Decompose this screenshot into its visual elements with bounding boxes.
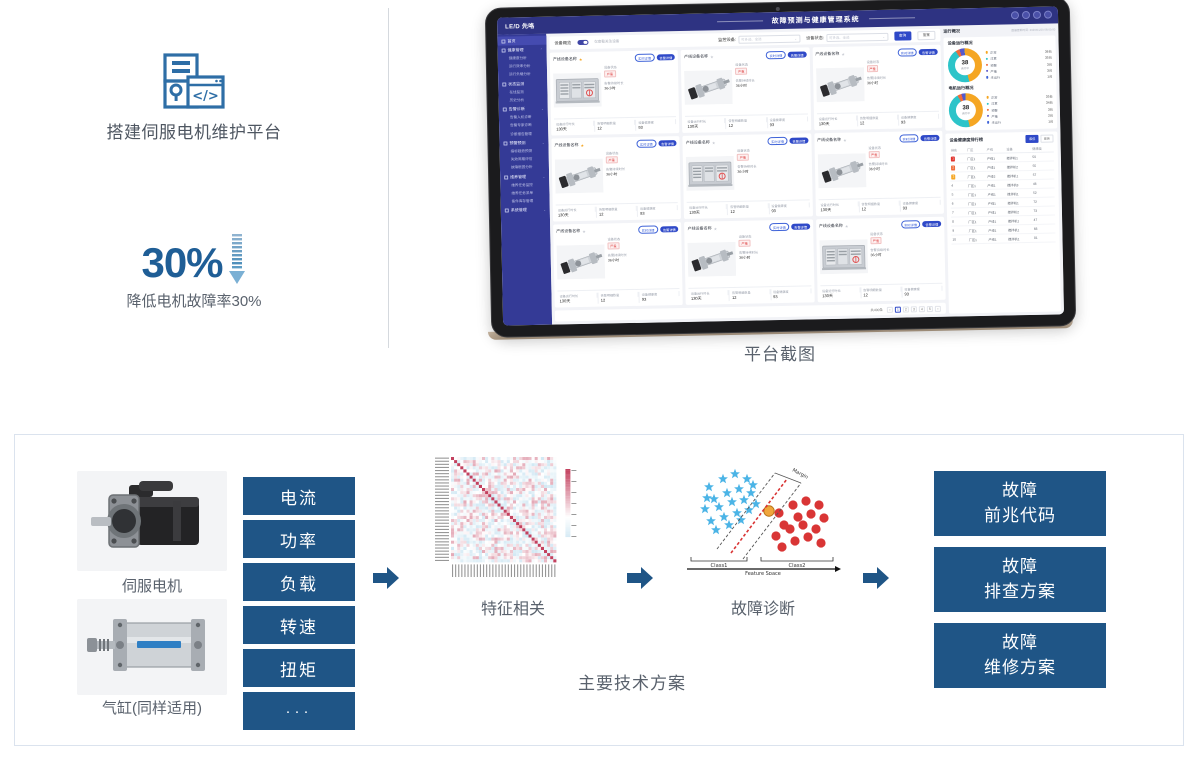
status-badge: 严重 xyxy=(735,68,747,75)
kpi-value: 30% xyxy=(141,242,222,284)
stat-value: 93 xyxy=(639,210,678,216)
cell-plant: 厂区1 xyxy=(968,235,988,244)
cell-score: 73 xyxy=(1032,206,1055,215)
tech-solution-box: 伺服电机 xyxy=(14,434,1184,746)
duration-value: 36小时 xyxy=(739,254,810,260)
device-thumbnail xyxy=(556,237,605,288)
realtime-detail-button[interactable]: 实时详情 xyxy=(899,134,919,143)
stat-value: 93 xyxy=(769,121,808,127)
device-thumbnail xyxy=(816,59,865,110)
page-button-3[interactable]: 3 xyxy=(911,306,917,312)
overview-title: 运行概况 xyxy=(943,28,960,34)
page-button-4[interactable]: 4 xyxy=(919,306,925,312)
legend-label: 未运行 xyxy=(991,74,1001,79)
legend-value: 3台 xyxy=(1048,106,1053,111)
device-card[interactable]: 产线设备名称 ★ 实时详情 告警详情 设备状态 严重 告警持续时长 36小时 xyxy=(812,45,942,131)
chevron-icon: ⌄ xyxy=(542,141,545,145)
duration-value: 36小时 xyxy=(867,80,938,86)
stat-cell: 设备运行时长 130天 xyxy=(818,201,859,213)
next-page-button[interactable]: › xyxy=(935,305,941,311)
legend-dot-icon xyxy=(987,102,989,104)
device-name: 产线设备名称 xyxy=(815,51,839,57)
realtime-detail-button[interactable]: 实时详情 xyxy=(897,48,917,57)
feature-correlation-heatmap xyxy=(433,451,593,577)
alarm-detail-button[interactable]: 告警详情 xyxy=(921,135,940,142)
device-card[interactable]: 产线设备名称 ★ 实时详情 告警详情 设备状态 严重 告警持续时长 36小时 xyxy=(551,136,681,222)
legend-value: 3台 xyxy=(1047,67,1052,72)
user-icon[interactable] xyxy=(1033,11,1041,19)
cell-rank: 5 xyxy=(951,190,967,199)
scatter-caption: 故障诊断 xyxy=(663,595,863,619)
stat-value: 12 xyxy=(861,206,900,212)
legend-value: 35台 xyxy=(1046,94,1053,99)
page-button-5[interactable]: 5 xyxy=(927,305,933,311)
alarm-detail-button[interactable]: 告警详情 xyxy=(660,226,679,233)
chevron-down-icon: ⌄ xyxy=(794,36,797,40)
output-line: 维修方案 xyxy=(984,656,1056,681)
alarm-detail-button[interactable]: 告警详情 xyxy=(919,49,938,56)
output-line: 故障 xyxy=(1002,479,1038,504)
stat-cell: 告警明细数量 12 xyxy=(861,286,902,298)
sidebar-item-label: 告警诊断 xyxy=(509,106,525,112)
device-thumbnail xyxy=(553,65,602,116)
status-badge: 严重 xyxy=(604,70,616,77)
stat-cell: 设备运行时长 130天 xyxy=(687,204,728,216)
output-box-column: 故障前兆代码故障排查方案故障维修方案 xyxy=(934,471,1106,688)
stat-value: 12 xyxy=(862,292,901,298)
pneumatic-cylinder-photo xyxy=(77,599,227,695)
app-body: 首页健康管理⌃健康度分析运行效率分析运行负载分析状态监测在线监测历史分析告警诊断… xyxy=(497,23,1064,325)
legend-value: 3台 xyxy=(1047,61,1052,66)
device-name: 产线设备名称 xyxy=(556,228,580,234)
cell-plant: 厂区1 xyxy=(966,172,986,181)
stat-value: 93 xyxy=(641,296,680,302)
device-thumbnail xyxy=(684,62,733,113)
prev-page-button[interactable]: ‹ xyxy=(887,306,893,312)
device-thumbnail xyxy=(688,234,737,285)
device-thumbnail xyxy=(686,148,735,199)
donut-value: 38 xyxy=(962,105,969,111)
stat-cell: 设备健康度 93 xyxy=(640,291,680,303)
cell-plant: 厂区1 xyxy=(967,217,987,226)
title-rule-right xyxy=(869,17,915,19)
device-card[interactable]: 产线设备名称 ★ 实时详情 告警详情 设备状态 严重 告警持续时长 36小 xyxy=(816,217,946,303)
alarm-detail-button[interactable]: 告警详情 xyxy=(788,51,807,58)
cell-line: 产线1 xyxy=(987,225,1007,234)
filter2-placeholder: 可多选、全选 xyxy=(829,35,849,40)
stat-value: 93 xyxy=(772,293,811,299)
device-meta: 设备状态 严重 告警持续时长 36小时 xyxy=(737,147,809,199)
card-header: 产线设备名称 ★ 实时详情 告警详情 xyxy=(684,50,806,61)
output-line: 排查方案 xyxy=(984,580,1056,605)
legend-label: 严重 xyxy=(991,113,997,118)
device-thumbnail xyxy=(555,151,604,202)
realtime-detail-button[interactable]: 实时详情 xyxy=(769,223,789,232)
legend-label: 未运行 xyxy=(991,119,1001,124)
tech-solution-caption: 主要技术方案 xyxy=(502,669,762,694)
donut-value: 38 xyxy=(962,60,969,66)
donut-chart: 38 运行中 xyxy=(949,93,984,128)
stat-value: 130天 xyxy=(559,298,598,305)
legend-value: 35台 xyxy=(1045,55,1052,60)
filter2-label: 设备状态: xyxy=(806,35,824,41)
stat-cell: 设备运行时长 130天 xyxy=(685,118,726,130)
title-rule-left xyxy=(717,20,763,22)
alarm-detail-button[interactable]: 告警详情 xyxy=(790,137,809,144)
alarm-detail-button[interactable]: 告警详情 xyxy=(658,140,677,147)
status-label: 设备状态 xyxy=(870,230,941,236)
kpi-caption: 降低电机故障率30% xyxy=(0,290,388,311)
status-badge: 严重 xyxy=(868,151,880,158)
filter-monitored-device: 监控设备: 可多选、全选 ⌄ xyxy=(718,34,800,44)
card-stats: 设备运行时长 130天 告警明细数量 12 设备健康度 93 xyxy=(820,282,943,299)
status-label: 设备状态 xyxy=(606,149,677,155)
sidebar-item-label: 告警专家诊断 xyxy=(510,123,532,128)
cell-rank: 7 xyxy=(951,208,967,217)
stat-value: 12 xyxy=(598,211,637,217)
fault-diagnosis-scatter: MarginClass1Class2Feature Space xyxy=(683,457,843,575)
legend-dot-icon xyxy=(986,76,988,78)
chevron-icon: ⌄ xyxy=(541,107,544,111)
star-icon[interactable]: ★ xyxy=(579,57,583,62)
rank-tab[interactable]: 最高 xyxy=(1040,135,1053,143)
device-name: 产线设备名称 xyxy=(819,223,843,229)
legend-dot-icon xyxy=(987,109,989,111)
status-label: 设备状态 xyxy=(735,61,806,67)
cell-line: 产线1 xyxy=(986,162,1006,171)
duration-value: 36小时 xyxy=(606,171,677,177)
legend-dot-icon xyxy=(986,70,988,72)
cell-line: 产线2 xyxy=(986,171,1006,180)
card-header: 产线设备名称 ★ 实时详情 告警详情 xyxy=(556,225,678,236)
realtime-detail-button[interactable]: 实时详情 xyxy=(768,137,788,146)
signal-tag-5: ··· xyxy=(243,692,355,730)
rank-table-body: 1 厂区1 产线1 搅拌机1 50 2 厂区1 产线1 搅拌机2 55 3 厂区… xyxy=(950,152,1056,244)
logo-text: LE/D 先咯 xyxy=(505,21,535,31)
device-meta: 设备状态 严重 告警持续时长 36小时 xyxy=(604,63,676,115)
rank-tab[interactable]: 最低 xyxy=(1026,135,1039,143)
output-box-2: 故障维修方案 xyxy=(934,623,1106,688)
donut-chart: 38 运行中 xyxy=(948,48,983,83)
device-card[interactable]: 产线设备名称 ★ 实时详情 告警详情 设备状态 严重 告警持续时长 36小时 xyxy=(681,47,811,133)
alarm-detail-button[interactable]: 告警详情 xyxy=(657,54,676,61)
realtime-detail-button[interactable]: 实时详情 xyxy=(766,51,786,60)
cell-score: 81 xyxy=(1033,233,1056,242)
down-arrow-icon xyxy=(227,232,247,288)
cell-rank: 4 xyxy=(950,181,966,190)
alert-icon xyxy=(503,108,507,112)
legend-label: 严重 xyxy=(990,68,996,73)
home-icon xyxy=(501,39,505,43)
donut-center: 38 运行中 xyxy=(949,93,984,128)
page-button-1[interactable]: 1 xyxy=(895,306,901,312)
donut-title: 电机运行概况 xyxy=(948,84,1052,92)
device-card[interactable]: 产线设备名称 ★ 实时详情 告警详情 设备状态 严重 告警持续时长 36小 xyxy=(550,50,680,136)
kpi-row: 30% xyxy=(0,238,388,288)
tablet-body: LE/D 先咯 故障预测与健康管理系统 xyxy=(485,0,1077,338)
svg-text:Class2: Class2 xyxy=(789,563,806,569)
star-icon[interactable]: ★ xyxy=(845,223,849,228)
wrench-icon xyxy=(504,175,508,179)
legend-dot-icon xyxy=(986,64,988,66)
overview-updated: 数据更新时间: 2020/01/20 08:00:00 xyxy=(1011,27,1055,32)
rank-badge: 1 xyxy=(951,157,955,161)
cell-rank: 8 xyxy=(951,217,967,226)
stat-cell: 告警明细数量 12 xyxy=(859,200,900,212)
output-line: 前兆代码 xyxy=(984,504,1056,529)
svg-text:Feature Space: Feature Space xyxy=(745,571,781,575)
device-meta: 设备状态 严重 告警持续时长 36小时 xyxy=(867,58,939,110)
cell-plant: 厂区1 xyxy=(967,190,987,199)
alarm-detail-button[interactable]: 告警详情 xyxy=(791,223,810,230)
card-stats: 设备运行时长 130天 告警明细数量 12 设备健康度 93 xyxy=(685,113,808,130)
chevron-icon: ⌃ xyxy=(540,48,543,52)
signal-tag-2: 负载 xyxy=(243,563,355,601)
legend-label: 预警 xyxy=(991,107,997,112)
alarm-detail-button[interactable]: 告警详情 xyxy=(923,220,942,227)
stat-cell: 设备运行时长 130天 xyxy=(556,206,597,218)
sidebar-item-20[interactable]: 系统管理⌄ xyxy=(501,205,550,215)
platform-code-icon: </> xyxy=(162,52,226,110)
filter1-label: 监控设备: xyxy=(718,36,736,42)
stat-cell: 告警明细数量 12 xyxy=(858,114,899,126)
status-label: 设备状态 xyxy=(867,58,938,64)
card-header: 产线设备名称 ★ 实时详情 告警详情 xyxy=(553,53,675,64)
star-icon[interactable]: ★ xyxy=(843,137,847,142)
arrow-right-icon-1 xyxy=(373,567,399,589)
card-body: 设备状态 严重 告警持续时长 36小时 xyxy=(555,149,678,202)
cell-line: 产线1 xyxy=(987,207,1007,216)
chevron-down-icon: ⌄ xyxy=(882,34,885,38)
device-name: 产线设备名称 xyxy=(554,142,578,148)
cell-plant: 厂区1 xyxy=(967,208,987,217)
stat-cell: 设备健康度 93 xyxy=(636,119,676,131)
stat-cell: 设备健康度 93 xyxy=(768,116,808,128)
cell-device: 搅拌机1 xyxy=(1007,234,1033,244)
chevron-icon: ⌄ xyxy=(543,208,546,212)
card-body: 设备状态 严重 告警持续时长 36小时 xyxy=(819,230,942,283)
rank-badge: 3 xyxy=(951,175,955,179)
status-badge: 严重 xyxy=(870,237,882,244)
donut-block-1: 电机运行概况 38 运行中 正常 35台 注意 34台 xyxy=(948,84,1053,128)
stat-value: 130天 xyxy=(821,292,860,299)
reset-button[interactable]: 重置 xyxy=(917,31,935,41)
rank-title: 设备健康度排行榜 xyxy=(949,137,983,144)
status-badge: 严重 xyxy=(607,242,619,249)
servo-motor-photo xyxy=(77,471,227,571)
cell-plant: 厂区1 xyxy=(966,154,986,163)
duration-value: 36小时 xyxy=(869,165,940,171)
platform-headline: 搭建伺服电机维护平台 xyxy=(0,118,388,143)
status-label: 设备状态 xyxy=(604,63,675,69)
left-summary-panel: </> 搭建伺服电机维护平台 30% xyxy=(0,0,388,356)
star-icon[interactable]: ★ xyxy=(710,54,714,59)
device-card[interactable]: 产线设备名称 ★ 实时详情 告警详情 设备状态 严重 告警持续时长 36小时 xyxy=(684,219,814,305)
filter2-select[interactable]: 可多选、全选 ⌄ xyxy=(826,32,888,41)
cell-score: 57 xyxy=(1032,170,1055,179)
sidebar-item-label: 诊断报告管理 xyxy=(510,132,532,137)
legend-label: 注意 xyxy=(991,101,997,106)
donut-row: 38 运行中 正常 35台 注意 34台 预警 3台 xyxy=(949,92,1054,128)
sidebar-item-label: 预警预测 xyxy=(509,140,525,146)
realtime-detail-button[interactable]: 实时详情 xyxy=(638,225,658,234)
star-icon[interactable]: ★ xyxy=(713,226,717,231)
card-header: 产线设备名称 ★ 实时详情 告警详情 xyxy=(687,222,809,233)
table-row[interactable]: 10 厂区1 产线1 搅拌机1 81 xyxy=(951,233,1055,244)
cell-rank: 3 xyxy=(950,172,966,181)
status-badge: 严重 xyxy=(867,65,879,72)
stat-value: 12 xyxy=(729,208,768,214)
device-meta: 设备状态 严重 告警持续时长 36小时 xyxy=(607,235,679,287)
device-name: 产线设备名称 xyxy=(684,54,708,60)
cell-plant: 厂区1 xyxy=(966,163,986,172)
legend-value: 36台 xyxy=(1045,49,1052,54)
card-body: 设备状态 严重 告警持续时长 36小时 xyxy=(816,58,939,111)
donut-center: 38 运行中 xyxy=(948,48,983,83)
cell-line: 产线1 xyxy=(987,234,1007,243)
cell-score: 52 xyxy=(1032,188,1055,197)
stat-value: 93 xyxy=(903,291,942,297)
realtime-detail-button[interactable]: 实时详情 xyxy=(636,139,656,148)
page-button-2[interactable]: 2 xyxy=(903,306,909,312)
duration-value: 36小时 xyxy=(608,257,679,263)
tablet-screen: LE/D 先咯 故障预测与健康管理系统 xyxy=(497,6,1064,325)
overview-panel: 运行概况 数据更新时间: 2020/01/20 08:00:00 设备运行概况 … xyxy=(943,26,1061,313)
device-thumbnail xyxy=(817,145,866,196)
search-button[interactable]: 查询 xyxy=(894,32,911,41)
header-icon-group xyxy=(1011,11,1052,20)
sidebar-item-label: 系统管理 xyxy=(511,207,527,213)
filter1-select[interactable]: 可多选、全选 ⌄ xyxy=(738,34,800,43)
card-header: 产线设备名称 ★ 实时详情 告警详情 xyxy=(554,139,676,150)
more-icon[interactable] xyxy=(1044,11,1052,19)
card-stats: 设备运行时长 130天 告警明细数量 12 设备健康度 93 xyxy=(554,116,677,133)
device-meta: 设备状态 严重 告警持续时长 36小时 xyxy=(868,144,940,196)
card-body: 设备状态 严重 告警持续时长 36小时 xyxy=(688,233,811,286)
cylinder-caption: 气缸(同样适用) xyxy=(62,697,242,718)
stat-cell: 告警明细数量 12 xyxy=(597,205,638,217)
app-logo[interactable]: LE/D 先咯 xyxy=(497,20,573,31)
filter-device-status: 设备状态: 可多选、全选 ⌄ xyxy=(806,32,888,42)
svg-text:Class1: Class1 xyxy=(711,563,728,569)
gear-icon xyxy=(505,209,509,213)
donut-label: 运行中 xyxy=(961,66,969,70)
home-icon[interactable] xyxy=(1022,11,1030,19)
device-card[interactable]: 产线设备名称 ★ 实时详情 告警详情 设备状态 严重 告警持续时长 36小 xyxy=(683,133,813,219)
flow-diagram: 伺服电机 xyxy=(15,435,1183,745)
sidebar-item-label: 指标趋势预测 xyxy=(511,149,533,154)
rank-badge: 2 xyxy=(951,166,955,170)
stat-value: 93 xyxy=(902,205,941,211)
stat-cell: 告警明细数量 12 xyxy=(599,291,640,303)
status-label: 设备状态 xyxy=(868,144,939,150)
donut-charts: 设备运行概况 38 运行中 正常 36台 注意 35台 xyxy=(943,35,1057,130)
stat-value: 12 xyxy=(596,125,635,131)
servo-motor-caption: 伺服电机 xyxy=(62,575,242,596)
donut-label: 运行中 xyxy=(962,111,970,115)
stat-value: 130天 xyxy=(688,209,727,216)
tablet-camera-icon xyxy=(775,7,779,11)
sidebar-item-label: 健康管理 xyxy=(508,47,524,53)
card-stats: 设备运行时长 130天 告警明细数量 12 设备健康度 93 xyxy=(817,110,940,127)
tablet-caption: 平台截图 xyxy=(470,340,1090,365)
device-card[interactable]: 产线设备名称 ★ 实时详情 告警详情 设备状态 严重 告警持续时长 36小时 xyxy=(814,131,944,217)
rank-table: 排名厂区产线设备健康度 1 厂区1 产线1 搅拌机1 50 2 厂区1 产线1 … xyxy=(950,144,1056,245)
sidebar-item-label: 故障根因分析 xyxy=(511,165,533,170)
stat-cell: 告警明细数量 12 xyxy=(726,117,767,129)
cell-plant: 厂区1 xyxy=(967,226,987,235)
watch-only-toggle[interactable] xyxy=(577,40,588,46)
chevron-icon: ⌄ xyxy=(543,174,546,178)
realtime-detail-button[interactable]: 实时详情 xyxy=(635,54,655,63)
app-title: 故障预测与健康管理系统 xyxy=(771,14,859,26)
stat-cell: 设备健康度 93 xyxy=(901,199,941,211)
health-rank-card: 设备健康度排行榜 最低最高 排名厂区产线设备健康度 1 厂区1 产线1 搅拌机1… xyxy=(945,131,1061,313)
device-meta: 设备状态 严重 告警持续时长 36小时 xyxy=(735,61,807,113)
cell-rank: 1 xyxy=(950,154,966,163)
device-card[interactable]: 产线设备名称 ★ 实时详情 告警详情 设备状态 严重 告警持续时长 36小时 xyxy=(553,222,683,308)
card-header: 产线设备名称 ★ 实时详情 告警详情 xyxy=(815,48,937,59)
card-body: 设备状态 严重 告警持续时长 36小时 xyxy=(556,235,679,288)
status-label: 设备状态 xyxy=(737,147,808,153)
star-icon[interactable]: ★ xyxy=(580,143,584,148)
stat-cell: 设备健康度 93 xyxy=(638,205,678,217)
stat-value: 12 xyxy=(600,297,639,303)
legend-value: 1台 xyxy=(1048,118,1053,123)
star-icon[interactable]: ★ xyxy=(582,229,586,234)
duration-value: 36小时 xyxy=(736,82,807,88)
sidebar-item-label: 健康度分析 xyxy=(509,56,527,61)
bell-icon[interactable] xyxy=(1011,11,1019,19)
stat-value: 93 xyxy=(770,207,809,213)
cell-line: 产线1 xyxy=(987,216,1007,225)
card-body: 设备状态 严重 告警持续时长 36小时 xyxy=(553,63,676,116)
star-icon[interactable]: ★ xyxy=(712,140,716,145)
legend-row: 严重 3台 xyxy=(986,67,1052,73)
rank-header: 设备健康度排行榜 最低最高 xyxy=(949,135,1053,145)
sidebar: 首页健康管理⌃健康度分析运行效率分析运行负载分析状态监测在线监测历史分析告警诊断… xyxy=(497,34,552,326)
card-stats: 设备运行时长 130天 告警明细数量 12 设备健康度 93 xyxy=(818,196,941,213)
stat-value: 130天 xyxy=(818,120,857,127)
device-name: 产线设备名称 xyxy=(817,137,841,143)
switch-hint: 仅查看关注设备 xyxy=(594,39,619,45)
legend-dot-icon xyxy=(986,57,988,59)
card-stats: 设备运行时长 130天 告警明细数量 12 设备健康度 93 xyxy=(557,288,680,305)
sidebar-item-label: 维养任务派单 xyxy=(511,191,533,196)
legend-row: 未运行 1台 xyxy=(986,73,1052,79)
sidebar-item-label: 维养管理 xyxy=(510,174,526,180)
sidebar-item-label: 告警人机诊断 xyxy=(510,115,532,120)
cell-line: 产线1 xyxy=(986,189,1006,198)
card-stats: 设备运行时长 130天 告警明细数量 12 设备健康度 93 xyxy=(687,199,810,216)
sidebar-item-label: 运行效率分析 xyxy=(509,64,531,69)
rank-tabs: 最低最高 xyxy=(1026,135,1054,143)
stat-value: 12 xyxy=(859,120,898,126)
device-thumbnail xyxy=(819,231,868,282)
legend-dot-icon xyxy=(987,96,989,98)
filter1-placeholder: 可多选、全选 xyxy=(741,36,761,41)
cell-line: 产线1 xyxy=(986,153,1006,162)
duration-value: 36小时 xyxy=(737,168,808,174)
stat-cell: 告警明细数量 12 xyxy=(728,203,769,215)
cell-plant: 厂区1 xyxy=(967,199,987,208)
cell-score: 72 xyxy=(1032,197,1055,206)
realtime-detail-button[interactable]: 实时详情 xyxy=(901,220,921,229)
rank-col-header: 排名 xyxy=(950,146,966,155)
legend-label: 注意 xyxy=(990,56,996,61)
legend-dot-icon xyxy=(987,115,989,117)
star-icon[interactable]: ★ xyxy=(841,51,845,56)
